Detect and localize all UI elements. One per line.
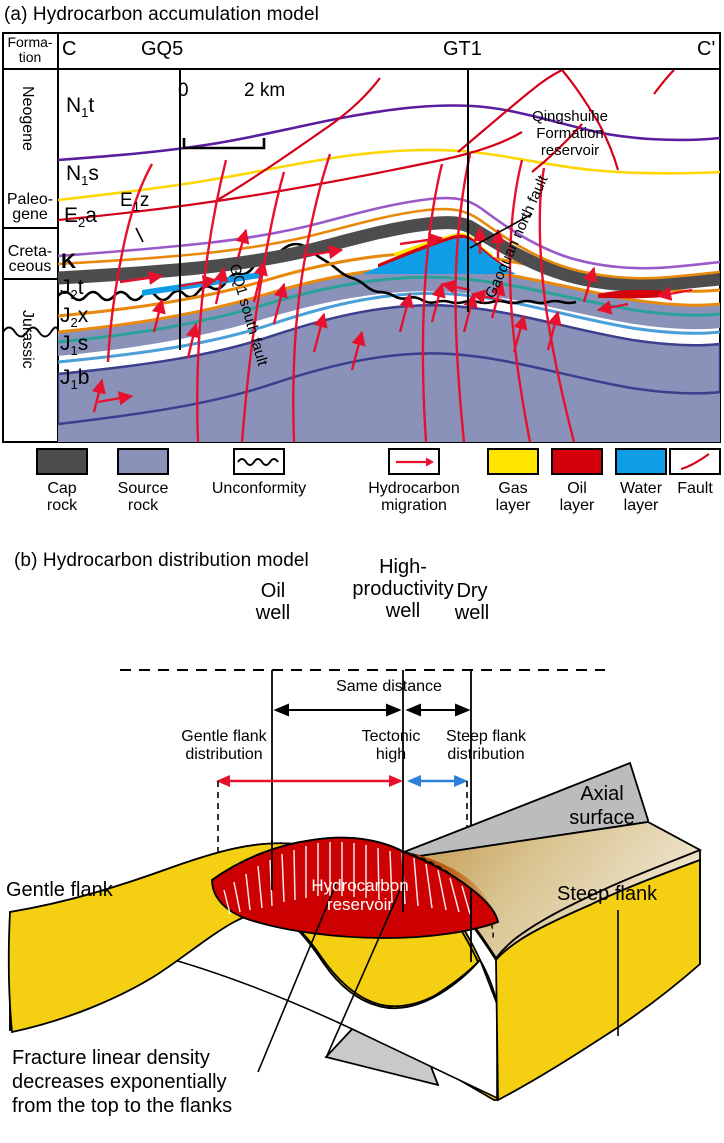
strat-label-paleogene: Paleo- gene <box>3 192 57 222</box>
unit-label-j1b: J1b <box>60 366 89 392</box>
scale-bar-left-label: 0 <box>178 80 189 102</box>
legend-caption-water-1: Water <box>620 480 662 497</box>
well-label-gq5: GQ5 <box>141 38 183 61</box>
unit-label-j1s: J1s <box>60 332 88 358</box>
legend-swatch-hydrocarbon-migration <box>388 448 440 475</box>
same-distance-arrows <box>276 705 468 715</box>
distribution-panel: Oil well High- productivity well Dry wel… <box>0 560 724 1143</box>
legend-caption-oil-2: layer <box>560 497 595 514</box>
legend-caption-gas-1: Gas <box>498 480 527 497</box>
scale-bar-right-label: 2 km <box>244 80 285 102</box>
legend-caption-cap-rock-2: rock <box>47 497 77 514</box>
legend: Cap rock Source rock Unconformity Hydro <box>0 448 724 518</box>
fracture-density-caption: Fracture linear density decreases expone… <box>12 1046 232 1118</box>
gentle-flank-arrow <box>216 775 403 787</box>
legend-item-unconformity: Unconformity <box>186 448 332 497</box>
unit-label-j2x: J2x <box>60 304 88 330</box>
legend-swatch-fault <box>669 448 721 475</box>
unit-label-j2t: J2t <box>60 276 84 302</box>
legend-caption-migration-2: migration <box>381 497 447 514</box>
unit-label-n1t: N1t <box>66 94 94 120</box>
arrow-right-icon <box>390 450 438 473</box>
legend-caption-migration-1: Hydrocarbon <box>368 480 460 497</box>
cross-section-panel: Forma- tion C GQ5 GT1 C' 0 2 km Neogene … <box>2 32 721 443</box>
legend-item-cap-rock: Cap rock <box>22 448 102 514</box>
legend-swatch-cap-rock <box>36 448 88 475</box>
wavy-icon <box>235 450 283 473</box>
legend-item-gas-layer: Gas layer <box>480 448 546 514</box>
legend-caption-gas-2: layer <box>496 497 531 514</box>
legend-item-oil-layer: Oil layer <box>546 448 608 514</box>
cross-section-graphic <box>2 32 721 443</box>
legend-caption-cap-rock-1: Cap <box>47 480 76 497</box>
legend-item-water-layer: Water layer <box>606 448 676 514</box>
legend-swatch-source-rock <box>117 448 169 475</box>
qingshuihe-reservoir-annotation: Qingshuihe Formation reservoir <box>500 108 640 159</box>
legend-swatch-water-layer <box>615 448 667 475</box>
zone-label-steep-flank: Steep flank distribution <box>421 728 551 764</box>
axial-surface-label: Axial surface <box>537 782 667 830</box>
unit-label-e1z: E1z <box>120 190 149 214</box>
hydrocarbon-reservoir-label: Hydrocarbon reservoir <box>275 876 445 914</box>
same-distance-label: Same distance <box>299 678 479 696</box>
legend-swatch-oil-layer <box>551 448 603 475</box>
steep-flank-arrow <box>407 775 468 787</box>
legend-caption-source-rock-1: Source <box>118 480 169 497</box>
gentle-flank-label: Gentle flank <box>6 878 113 902</box>
strat-label-cretaceous: Creta- ceous <box>3 244 57 274</box>
legend-swatch-gas-layer <box>487 448 539 475</box>
legend-caption-fault: Fault <box>677 480 713 497</box>
legend-item-fault: Fault <box>668 448 722 497</box>
legend-caption-water-2: layer <box>624 497 659 514</box>
legend-caption-source-rock-2: rock <box>128 497 158 514</box>
unit-label-n1s: N1s <box>66 162 99 188</box>
well-label-gt1: GT1 <box>443 38 482 61</box>
section-label-c-prime: C' <box>697 38 715 61</box>
formation-header-cell: Forma- tion <box>4 35 56 65</box>
legend-item-hydrocarbon-migration: Hydrocarbon migration <box>336 448 492 514</box>
well-label-oil: Oil well <box>228 580 318 624</box>
legend-swatch-unconformity <box>233 448 285 475</box>
strat-label-jurassic: Jurassic <box>18 310 36 435</box>
unit-label-e2a: E2a <box>64 204 97 230</box>
legend-caption-unconformity: Unconformity <box>212 480 306 497</box>
unit-label-k: K <box>61 250 76 274</box>
zone-label-gentle-flank: Gentle flank distribution <box>160 728 288 764</box>
panel-a-title: (a) Hydrocarbon accumulation model <box>4 4 319 26</box>
steep-flank-label: Steep flank <box>557 882 657 906</box>
legend-caption-oil-1: Oil <box>567 480 587 497</box>
well-label-dry: Dry well <box>430 580 514 624</box>
section-label-c: C <box>62 38 76 61</box>
fault-line-icon <box>671 450 719 473</box>
legend-item-source-rock: Source rock <box>100 448 186 514</box>
